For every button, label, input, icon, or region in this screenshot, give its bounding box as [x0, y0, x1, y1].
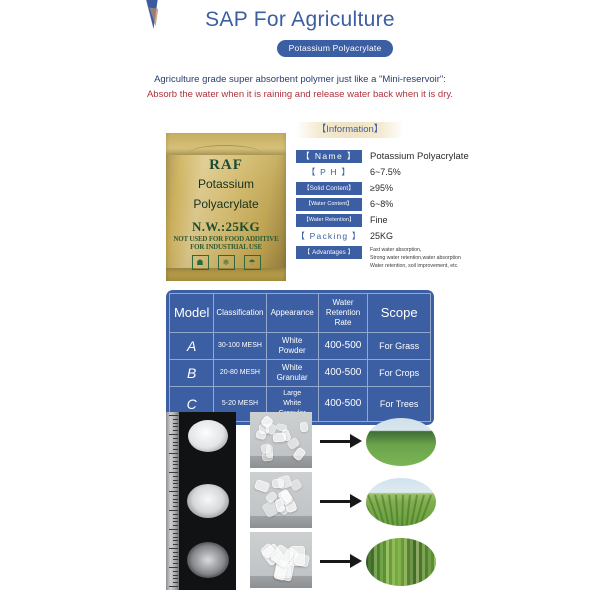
bag-warning-line-1: NOT USED FOR FOOD ADDITIVE: [166, 235, 286, 243]
ruler-tick: [173, 544, 178, 545]
handling-symbol-icon: ☗: [192, 255, 209, 270]
cell-model: B: [170, 360, 214, 387]
header-rate-line-1: Water: [320, 298, 367, 308]
ruler-tick: [173, 480, 178, 481]
arrow-head: [350, 434, 362, 448]
cell-appearance: White Granular: [266, 360, 318, 387]
application-photo-grass: [366, 418, 436, 466]
header-appearance: Appearance: [266, 294, 318, 333]
sample-powder-fine: [188, 420, 228, 452]
ruler-tick: [173, 445, 178, 446]
bag-top-fold: [166, 133, 286, 155]
table-row: A 30-100 MESH White Powder 400-500 For G…: [170, 333, 431, 360]
bag-net-weight: N.W.:25KG: [166, 219, 286, 235]
cell-scope: For Crops: [368, 360, 431, 387]
info-row-ph: 【 P H 】 6~7.5%: [296, 166, 496, 179]
arrow-head: [350, 554, 362, 568]
information-panel: 【Information】 【 Name 】 Potassium Polyacr…: [296, 122, 496, 273]
info-row-solid-content: 【Solid Content】 ≥95%: [296, 182, 496, 195]
gel-chunk: [265, 444, 273, 457]
bamboo-trunk: [398, 538, 401, 586]
info-label-water-content: 【Water Content】: [296, 198, 362, 211]
info-row-name: 【 Name 】 Potassium Polyacrylate: [296, 150, 496, 163]
gel-chunk: [300, 421, 309, 432]
ruler-tick: [173, 502, 178, 503]
info-row-packing: 【 Packing 】 25KG: [296, 230, 496, 243]
cell-model: A: [170, 333, 214, 360]
application-gallery: [166, 412, 436, 590]
bamboo-trunk: [422, 538, 425, 586]
bamboo-trunk: [380, 538, 383, 586]
advantage-item: Water retention, soil improvement, etc.: [370, 262, 461, 270]
information-rows: 【 Name 】 Potassium Polyacrylate 【 P H 】 …: [296, 150, 496, 270]
info-label-water-retention: 【Water Retention】: [296, 214, 362, 227]
application-photo-trees: [366, 538, 436, 586]
info-label-packing: 【 Packing 】: [296, 230, 362, 243]
ruler-tick: [173, 468, 178, 469]
product-badge: Potassium Polyacrylate: [277, 40, 394, 57]
arrow-right-icon: [320, 554, 364, 568]
arrow-right-icon: [320, 434, 364, 448]
ruler-tick: [173, 514, 178, 515]
ruler-tick: [173, 571, 178, 572]
ruler-tick: [173, 540, 178, 541]
bamboo-trunk: [434, 538, 436, 586]
subtitle-line-2: Absorb the water when it is raining and …: [0, 87, 600, 102]
header-rate-line-3: Rate: [320, 318, 367, 328]
ruler-tick: [169, 453, 178, 454]
appearance-line-1: Large: [268, 389, 317, 399]
ruler-tick: [173, 464, 178, 465]
gel-chunk: [254, 479, 271, 493]
ruler-tick: [169, 415, 178, 416]
bamboo-trunk: [410, 538, 413, 586]
bamboo-trunk: [416, 538, 419, 586]
spec-grid: Model Classification Appearance Water Re…: [169, 293, 431, 422]
ruler-tick: [173, 518, 178, 519]
application-photo-crops: [366, 478, 436, 526]
bamboo-trunk: [404, 538, 407, 586]
bag-product-name-line-1: Potassium: [166, 177, 286, 191]
dry-sample-group: [179, 412, 236, 590]
ruler-tick: [173, 552, 178, 553]
ruler-tick: [169, 491, 178, 492]
advantage-item: Strong water retention,water absorption: [370, 254, 461, 262]
cell-appearance: White Powder: [266, 333, 318, 360]
swollen-gel-photo-fine: [250, 412, 312, 468]
ruler-tick: [173, 430, 178, 431]
umbrella-icon: ☂: [244, 255, 261, 270]
ruler-tick: [169, 510, 178, 511]
ruler-tick: [173, 556, 178, 557]
snowflake-icon: ❄: [218, 255, 235, 270]
info-value-name: Potassium Polyacrylate: [370, 150, 469, 163]
ruler-tick: [173, 419, 178, 420]
info-value-packing: 25KG: [370, 230, 393, 243]
ruler-tick: [173, 582, 178, 583]
info-label-solid-content: 【Solid Content】: [296, 182, 362, 195]
ruler-tick: [173, 499, 178, 500]
gel-chunk: [271, 479, 284, 488]
ruler-tick: [169, 586, 178, 587]
ruler-tick: [173, 533, 178, 534]
ruler-tick: [173, 525, 178, 526]
arrow-head: [350, 494, 362, 508]
advantage-item: Fast water absorption,: [370, 246, 461, 254]
swollen-gel-photo-large: [250, 532, 312, 588]
info-row-water-content: 【Water Content】 6~8%: [296, 198, 496, 211]
subtitle-line-1: Agriculture grade super absorbent polyme…: [0, 72, 600, 87]
ruler-tick: [169, 434, 178, 435]
info-label-ph: 【 P H 】: [296, 166, 362, 179]
ruler-tick: [173, 506, 178, 507]
bag-warning-line-2: FOR INDUSTRIAL USE: [166, 243, 286, 251]
info-value-advantages: Fast water absorption, Strong water rete…: [370, 246, 461, 270]
table-row: B 20-80 MESH White Granular 400-500 For …: [170, 360, 431, 387]
ruler-tick: [169, 472, 178, 473]
cell-rate: 400-500: [318, 333, 368, 360]
arrow-shaft: [320, 560, 352, 563]
sample-granular-large: [187, 542, 229, 578]
appearance-line-2: White: [268, 399, 317, 409]
bamboo-trunk: [428, 538, 431, 586]
bamboo-trunk: [386, 538, 389, 586]
header-model: Model: [170, 294, 214, 333]
ruler-tick: [173, 487, 178, 488]
ruler-tick: [169, 529, 178, 530]
ruler-tick: [173, 426, 178, 427]
bamboo-trunk: [374, 538, 377, 586]
dry-product-photo: [166, 412, 236, 590]
ruler-tick: [173, 537, 178, 538]
gel-chunk: [292, 447, 306, 461]
ruler-tick: [173, 449, 178, 450]
specification-table: Model Classification Appearance Water Re…: [166, 290, 434, 425]
ruler-tick: [173, 457, 178, 458]
info-value-ph: 6~7.5%: [370, 166, 401, 179]
ruler-tick: [173, 423, 178, 424]
bamboo-trunk: [368, 538, 371, 586]
header: SAP For Agriculture Potassium Polyacryla…: [0, 8, 600, 57]
arrow-shaft: [320, 500, 352, 503]
header-water-retention-rate: Water Retention Rate: [318, 294, 368, 333]
field-furrow: [388, 495, 394, 526]
info-label-name: 【 Name 】: [296, 150, 362, 163]
bag-handling-symbols: ☗ ❄ ☂: [166, 255, 286, 270]
ruler-tick: [173, 563, 178, 564]
ruler-tick: [173, 578, 178, 579]
ruler-icon: [166, 412, 179, 590]
ruler-tick: [173, 521, 178, 522]
ruler-tick: [173, 495, 178, 496]
ruler-tick: [173, 483, 178, 484]
header-rate-line-2: Retention: [320, 308, 367, 318]
badge-row: Potassium Polyacrylate: [0, 38, 600, 57]
info-row-water-retention: 【Water Retention】 Fine: [296, 214, 496, 227]
cell-classification: 20-80 MESH: [214, 360, 266, 387]
ruler-tick: [173, 438, 178, 439]
header-scope: Scope: [368, 294, 431, 333]
ruler-tick: [173, 559, 178, 560]
swollen-gel-photo-medium: [250, 472, 312, 528]
bag-brand-logo: RAF: [166, 157, 286, 174]
field-furrow: [395, 495, 398, 526]
cell-classification: 30-100 MESH: [214, 333, 266, 360]
info-value-water-retention: Fine: [370, 214, 388, 227]
bamboo-trunk: [392, 538, 395, 586]
info-value-water-content: 6~8%: [370, 198, 393, 211]
table-header-row: Model Classification Appearance Water Re…: [170, 294, 431, 333]
product-bag-photo: RAF Potassium Polyacrylate N.W.:25KG NOT…: [166, 133, 286, 281]
header-classification: Classification: [214, 294, 266, 333]
info-value-solid-content: ≥95%: [370, 182, 393, 195]
gel-chunk: [273, 433, 287, 443]
bag-product-name-line-2: Polyacrylate: [166, 197, 286, 211]
arrow-right-icon: [320, 494, 364, 508]
subtitle-block: Agriculture grade super absorbent polyme…: [0, 72, 600, 102]
ruler-tick: [173, 476, 178, 477]
field-furrow: [401, 495, 404, 526]
arrow-shaft: [320, 440, 352, 443]
information-header: 【Information】: [296, 122, 404, 138]
info-row-advantages: 【 Advantages 】 Fast water absorption, St…: [296, 246, 496, 270]
sample-powder-medium: [187, 484, 229, 518]
ruler-tick: [169, 567, 178, 568]
cell-scope: For Grass: [368, 333, 431, 360]
ruler-tick: [173, 442, 178, 443]
page-title: SAP For Agriculture: [0, 8, 600, 32]
ruler-tick: [173, 461, 178, 462]
info-label-advantages: 【 Advantages 】: [296, 246, 362, 259]
ruler-tick: [169, 548, 178, 549]
ruler-tick: [173, 575, 178, 576]
cell-rate: 400-500: [318, 360, 368, 387]
